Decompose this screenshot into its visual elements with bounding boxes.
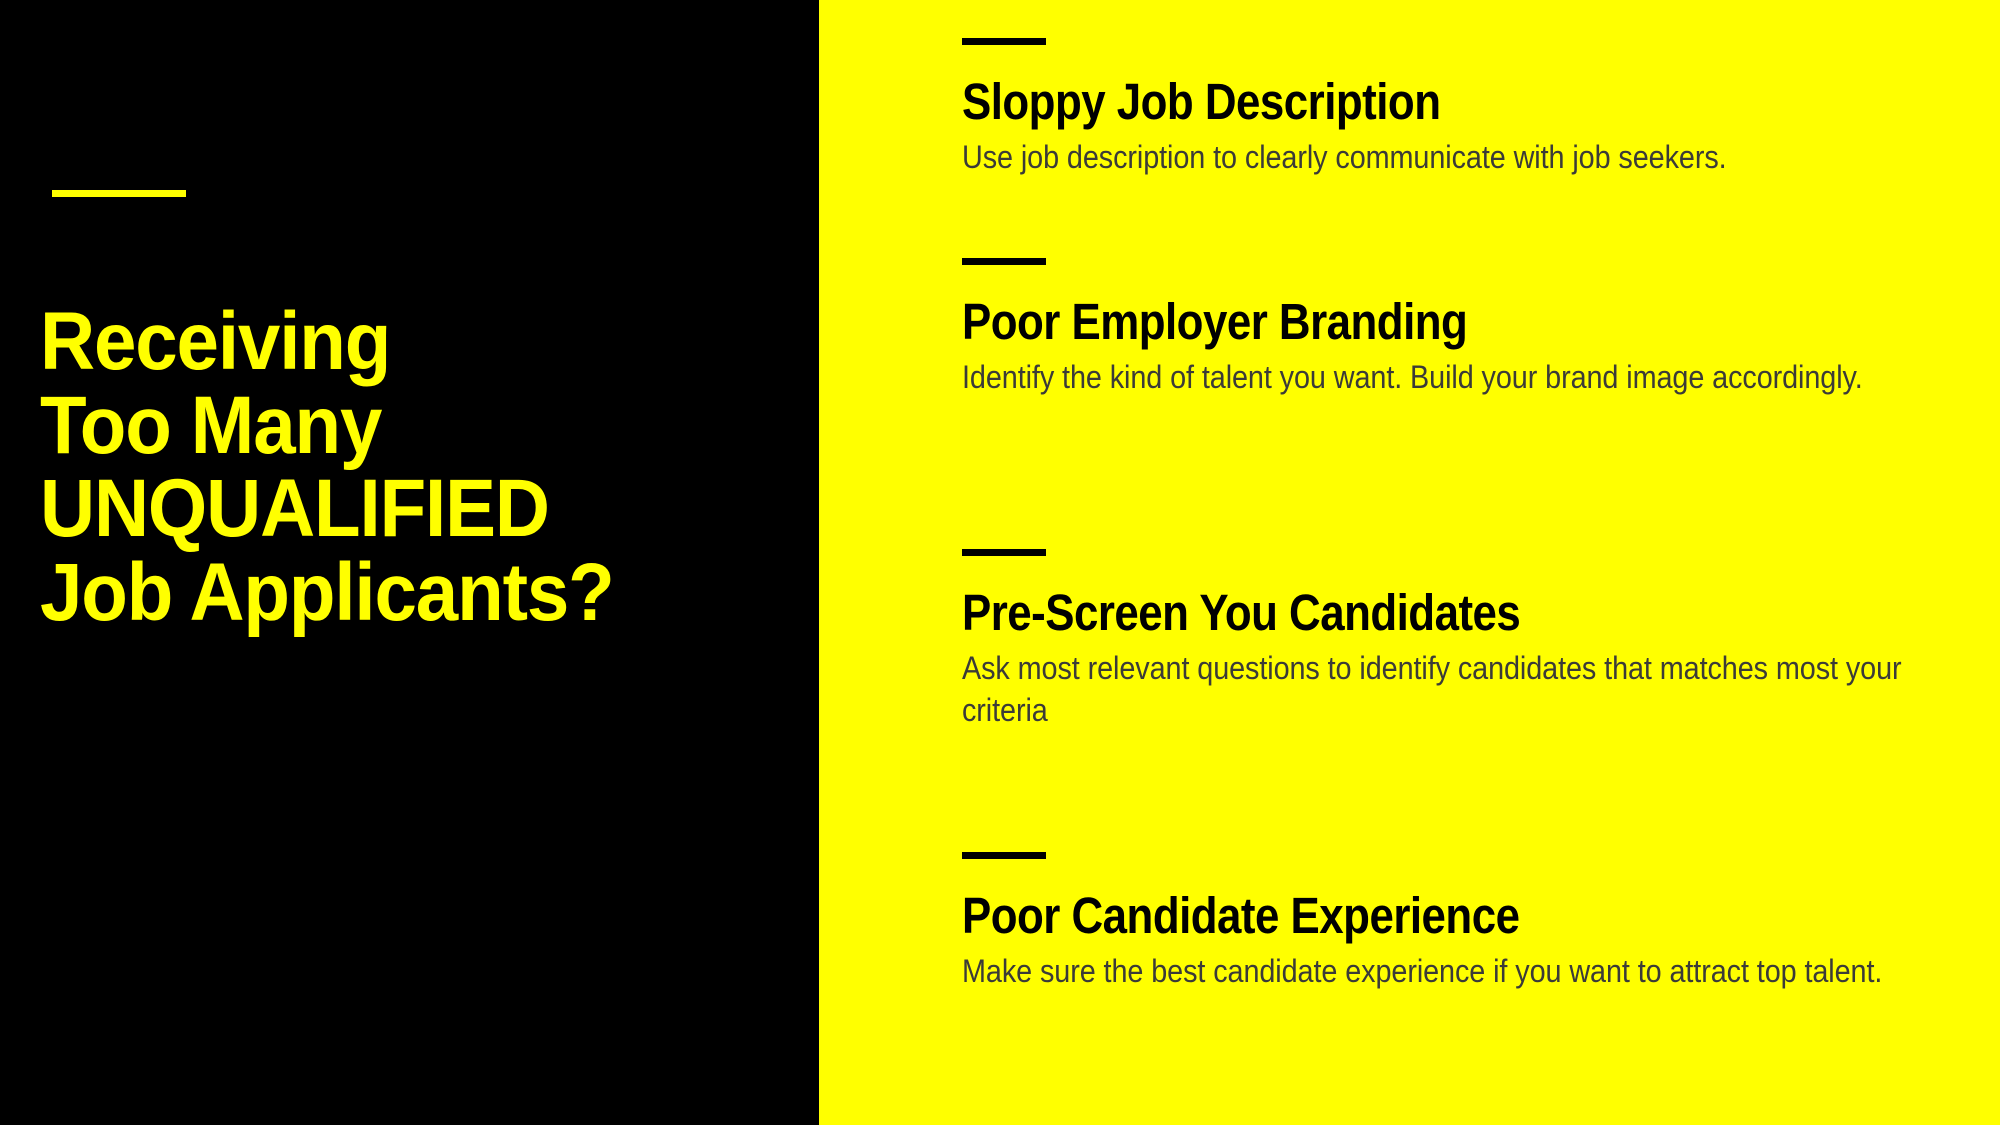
tip-body: Ask most relevant questions to identify …	[962, 647, 1952, 732]
block-accent-rule-icon	[962, 38, 1046, 45]
tip-body: Identify the kind of talent you want. Bu…	[962, 356, 1952, 399]
tip-body: Use job description to clearly communica…	[962, 136, 1952, 179]
tips-list: Sloppy Job Description Use job descripti…	[962, 0, 1962, 1125]
right-panel: Sloppy Job Description Use job descripti…	[819, 0, 2000, 1125]
left-accent-rule-icon	[52, 190, 186, 197]
tip-heading: Pre-Screen You Candidates	[962, 586, 1822, 640]
tip-block: Pre-Screen You Candidates Ask most relev…	[962, 549, 1962, 732]
tip-heading: Sloppy Job Description	[962, 75, 1822, 129]
tip-body: Make sure the best candidate experience …	[962, 950, 1952, 993]
block-accent-rule-icon	[962, 549, 1046, 556]
slide-canvas: Receiving Too Many UNQUALIFIED Job Appli…	[0, 0, 2000, 1125]
block-accent-rule-icon	[962, 852, 1046, 859]
left-panel: Receiving Too Many UNQUALIFIED Job Appli…	[0, 0, 819, 1125]
slide-main-title: Receiving Too Many UNQUALIFIED Job Appli…	[40, 300, 747, 635]
tip-block: Poor Candidate Experience Make sure the …	[962, 852, 1962, 992]
tip-heading: Poor Employer Branding	[962, 295, 1822, 349]
tip-block: Sloppy Job Description Use job descripti…	[962, 38, 1962, 178]
tip-block: Poor Employer Branding Identify the kind…	[962, 258, 1962, 398]
tip-heading: Poor Candidate Experience	[962, 889, 1822, 943]
block-accent-rule-icon	[962, 258, 1046, 265]
